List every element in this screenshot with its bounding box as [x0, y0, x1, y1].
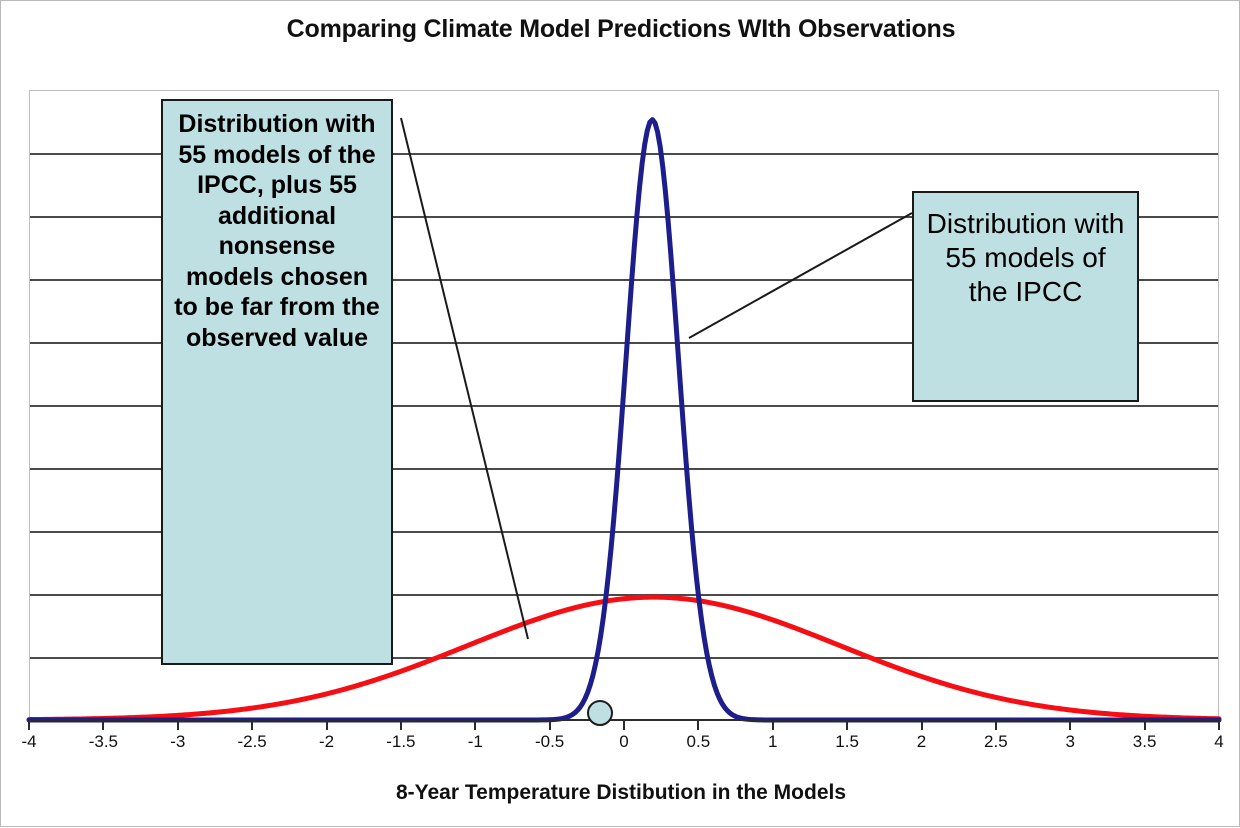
x-tick-label: 0 — [594, 732, 654, 752]
x-tick — [400, 721, 402, 730]
x-tick-label: 3.5 — [1115, 732, 1175, 752]
x-tick-label: -4 — [0, 732, 59, 752]
x-tick-label: -1 — [445, 732, 505, 752]
x-tick — [1069, 721, 1071, 730]
x-tick — [28, 721, 30, 730]
x-tick-label: -2.5 — [222, 732, 282, 752]
x-tick — [102, 721, 104, 730]
x-tick — [549, 721, 551, 730]
x-tick — [772, 721, 774, 730]
x-tick — [474, 721, 476, 730]
x-tick-label: 2 — [892, 732, 952, 752]
x-tick-label: 3 — [1040, 732, 1100, 752]
x-axis-title: 8-Year Temperature Distibution in the Mo… — [1, 781, 1240, 805]
chart-root: Comparing Climate Model Predictions WIth… — [0, 0, 1240, 827]
callout-left-distribution[interactable]: Distribution with 55 models of the IPCC,… — [161, 99, 393, 665]
x-tick-label: -3 — [148, 732, 208, 752]
x-tick-label: -1.5 — [371, 732, 431, 752]
x-tick-label: -0.5 — [520, 732, 580, 752]
x-tick-label: 2.5 — [966, 732, 1026, 752]
x-tick-label: -3.5 — [73, 732, 133, 752]
x-tick — [995, 721, 997, 730]
x-tick — [326, 721, 328, 730]
observed-value-marker[interactable] — [587, 700, 613, 726]
x-tick — [1218, 721, 1220, 730]
x-tick-label: 1 — [743, 732, 803, 752]
x-tick-label: 4 — [1189, 732, 1240, 752]
callout-right-distribution[interactable]: Distribution with 55 models of the IPCC — [912, 191, 1139, 402]
x-tick — [697, 721, 699, 730]
x-tick — [1144, 721, 1146, 730]
x-tick-label: 0.5 — [668, 732, 728, 752]
x-tick — [623, 721, 625, 730]
chart-title: Comparing Climate Model Predictions WIth… — [1, 15, 1240, 44]
x-tick — [846, 721, 848, 730]
x-tick — [251, 721, 253, 730]
x-tick — [921, 721, 923, 730]
x-tick-label: 1.5 — [817, 732, 877, 752]
x-tick-label: -2 — [297, 732, 357, 752]
x-tick — [177, 721, 179, 730]
